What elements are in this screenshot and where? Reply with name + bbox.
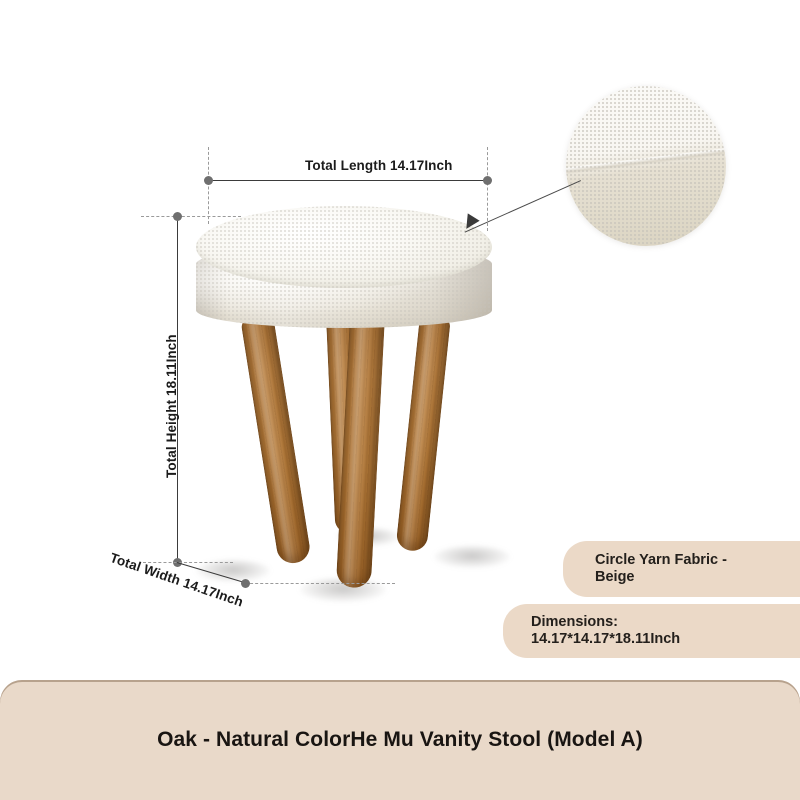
height-dot-top [173,212,182,221]
width-extension-right [245,583,395,584]
callout-fabric-text: Circle Yarn Fabric - Beige [595,552,727,586]
callout-dimensions: Dimensions: 14.17*14.17*18.11Inch [503,604,800,658]
stool-leg-front-left [240,313,312,565]
footer-bar: Oak - Natural ColorHe Mu Vanity Stool (M… [0,680,800,800]
width-dot-right [241,579,250,588]
length-dot-left [204,176,213,185]
stool-leg-rear-right [395,314,450,552]
product-title: Oak - Natural ColorHe Mu Vanity Stool (M… [0,728,800,752]
callout-dimensions-text: Dimensions: 14.17*14.17*18.11Inch [531,614,680,648]
length-extension-right [487,147,488,231]
stool-cushion [196,206,492,336]
height-label: Total Height 18.11Inch [164,334,179,478]
length-label: Total Length 14.17Inch [305,158,452,173]
height-extension-top [141,216,241,217]
length-dimension-line [208,180,487,181]
product-image-stage: Total Length 14.17Inch Total Height 18.1… [0,0,800,800]
length-extension-left [208,147,209,224]
length-dot-right [483,176,492,185]
foot-shadow [434,546,510,568]
width-extension-left [143,562,233,563]
callout-fabric: Circle Yarn Fabric - Beige [563,541,800,597]
fabric-texture [566,86,726,246]
fabric-detail-circle [566,86,726,246]
